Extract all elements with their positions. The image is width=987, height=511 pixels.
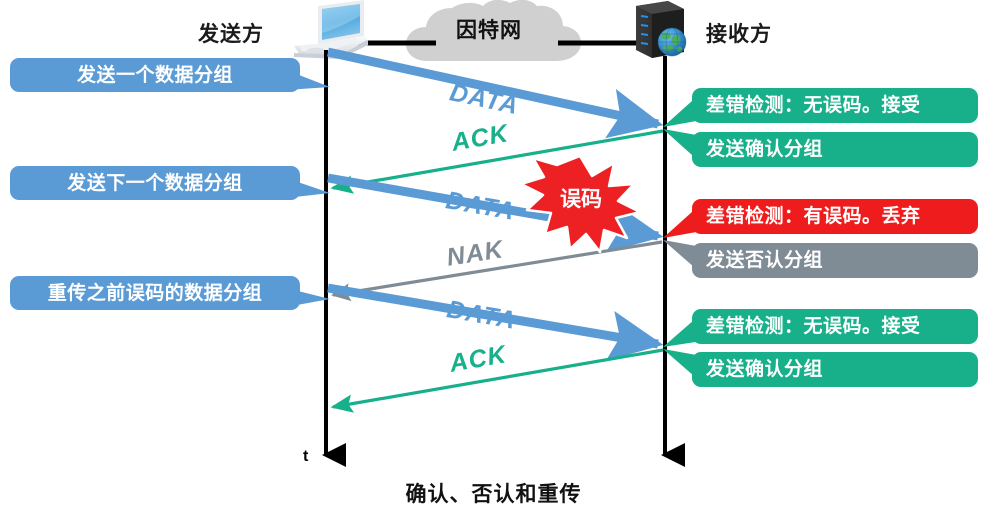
receiver-title: 接收方: [706, 18, 772, 48]
receiver-callout-2: 发送确认分组: [692, 132, 978, 167]
sender-callout-2: 发送下一个数据分组: [10, 166, 300, 200]
receiver-callout-5: 差错检测：无误码。接受: [692, 309, 978, 344]
receiver-callout-4: 发送否认分组: [692, 243, 978, 278]
network-cloud-label: 因特网: [456, 14, 522, 44]
time-axis-label-receiver: t: [673, 448, 678, 466]
receiver-callout-1: 差错检测：无误码。接受: [692, 88, 978, 123]
sender-callout-3: 重传之前误码的数据分组: [10, 276, 300, 310]
sender-callout-1: 发送一个数据分组: [10, 58, 300, 92]
sender-title: 发送方: [198, 18, 264, 48]
server-icon: [636, 1, 686, 58]
receiver-callout-3: 差错检测：有误码。丢弃: [692, 199, 978, 234]
error-burst-label: 误码: [541, 183, 621, 213]
globe-icon: [658, 28, 686, 56]
time-axis-label-sender: t: [303, 448, 308, 466]
receiver-callout-6: 发送确认分组: [692, 352, 978, 387]
protocol-diagram: 发送方 接收方 因特网 误码 发送一个数据分组 发送下一个数据分组 重传之前误码…: [0, 0, 987, 511]
diagram-caption: 确认、否认和重传: [0, 478, 987, 508]
